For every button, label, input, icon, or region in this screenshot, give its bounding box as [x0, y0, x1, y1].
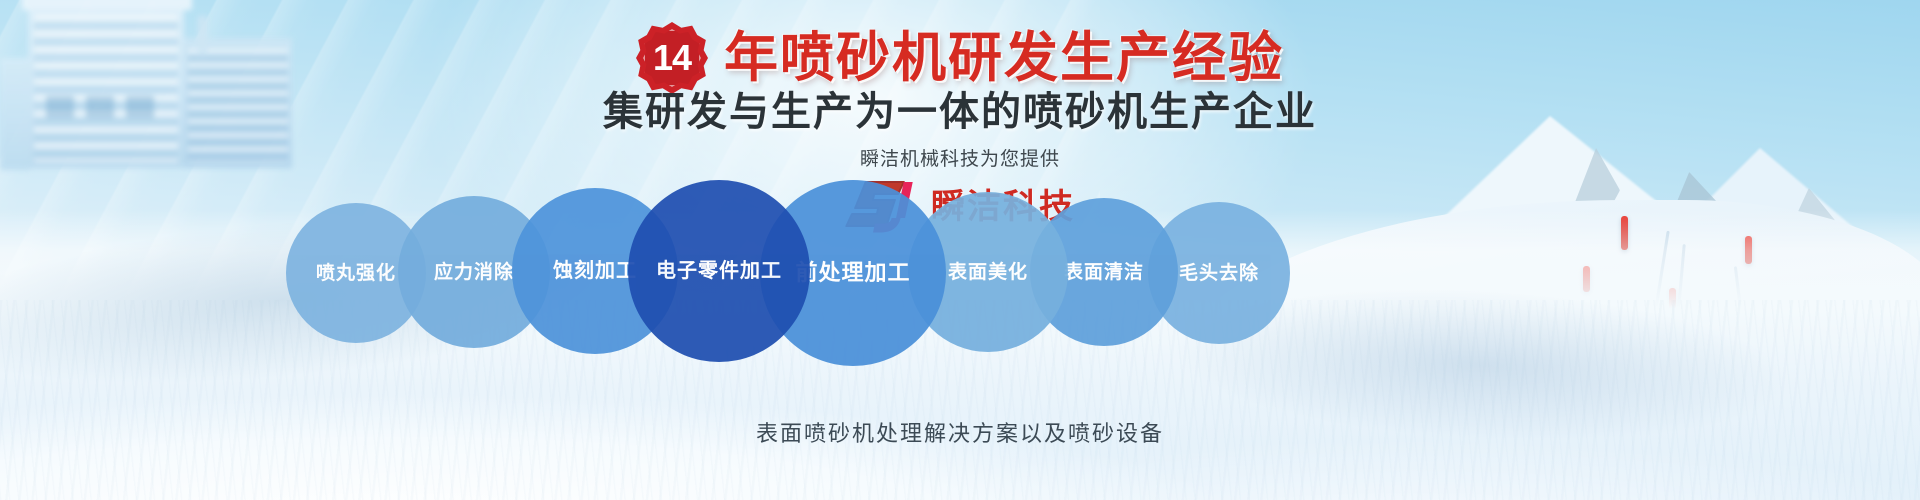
service-circle-label: 电子零件加工 [656, 261, 782, 281]
headline-small-text: 瞬洁机械科技为您提供 [0, 144, 1920, 171]
service-circle-label: 应力消除 [434, 263, 514, 282]
years-badge: 14 [636, 22, 708, 94]
headline-sub-title: 集研发与生产为一体的喷砂机生产企业 [0, 92, 1920, 132]
service-circle-label: 前处理加工 [795, 262, 910, 284]
service-circle-label: 喷丸强化 [316, 264, 396, 283]
promo-banner: 喷丸强化应力消除蚀刻加工电子零件加工前处理加工表面美化表面清洁毛头去除 14 年… [0, 0, 1920, 500]
service-circle[interactable]: 电子零件加工 [628, 180, 810, 362]
headline-row: 14 年喷砂机研发生产经验 [0, 22, 1920, 94]
service-circle-label: 表面清洁 [1064, 263, 1144, 282]
headline-main-title: 年喷砂机研发生产经验 [724, 31, 1284, 85]
service-circle-label: 毛头去除 [1179, 264, 1259, 283]
footer-caption: 表面喷砂机处理解决方案以及喷砂设备 [0, 416, 1920, 448]
service-circle-label: 蚀刻加工 [553, 261, 637, 281]
badge-number: 14 [653, 40, 691, 76]
service-circle-label: 表面美化 [948, 263, 1028, 282]
